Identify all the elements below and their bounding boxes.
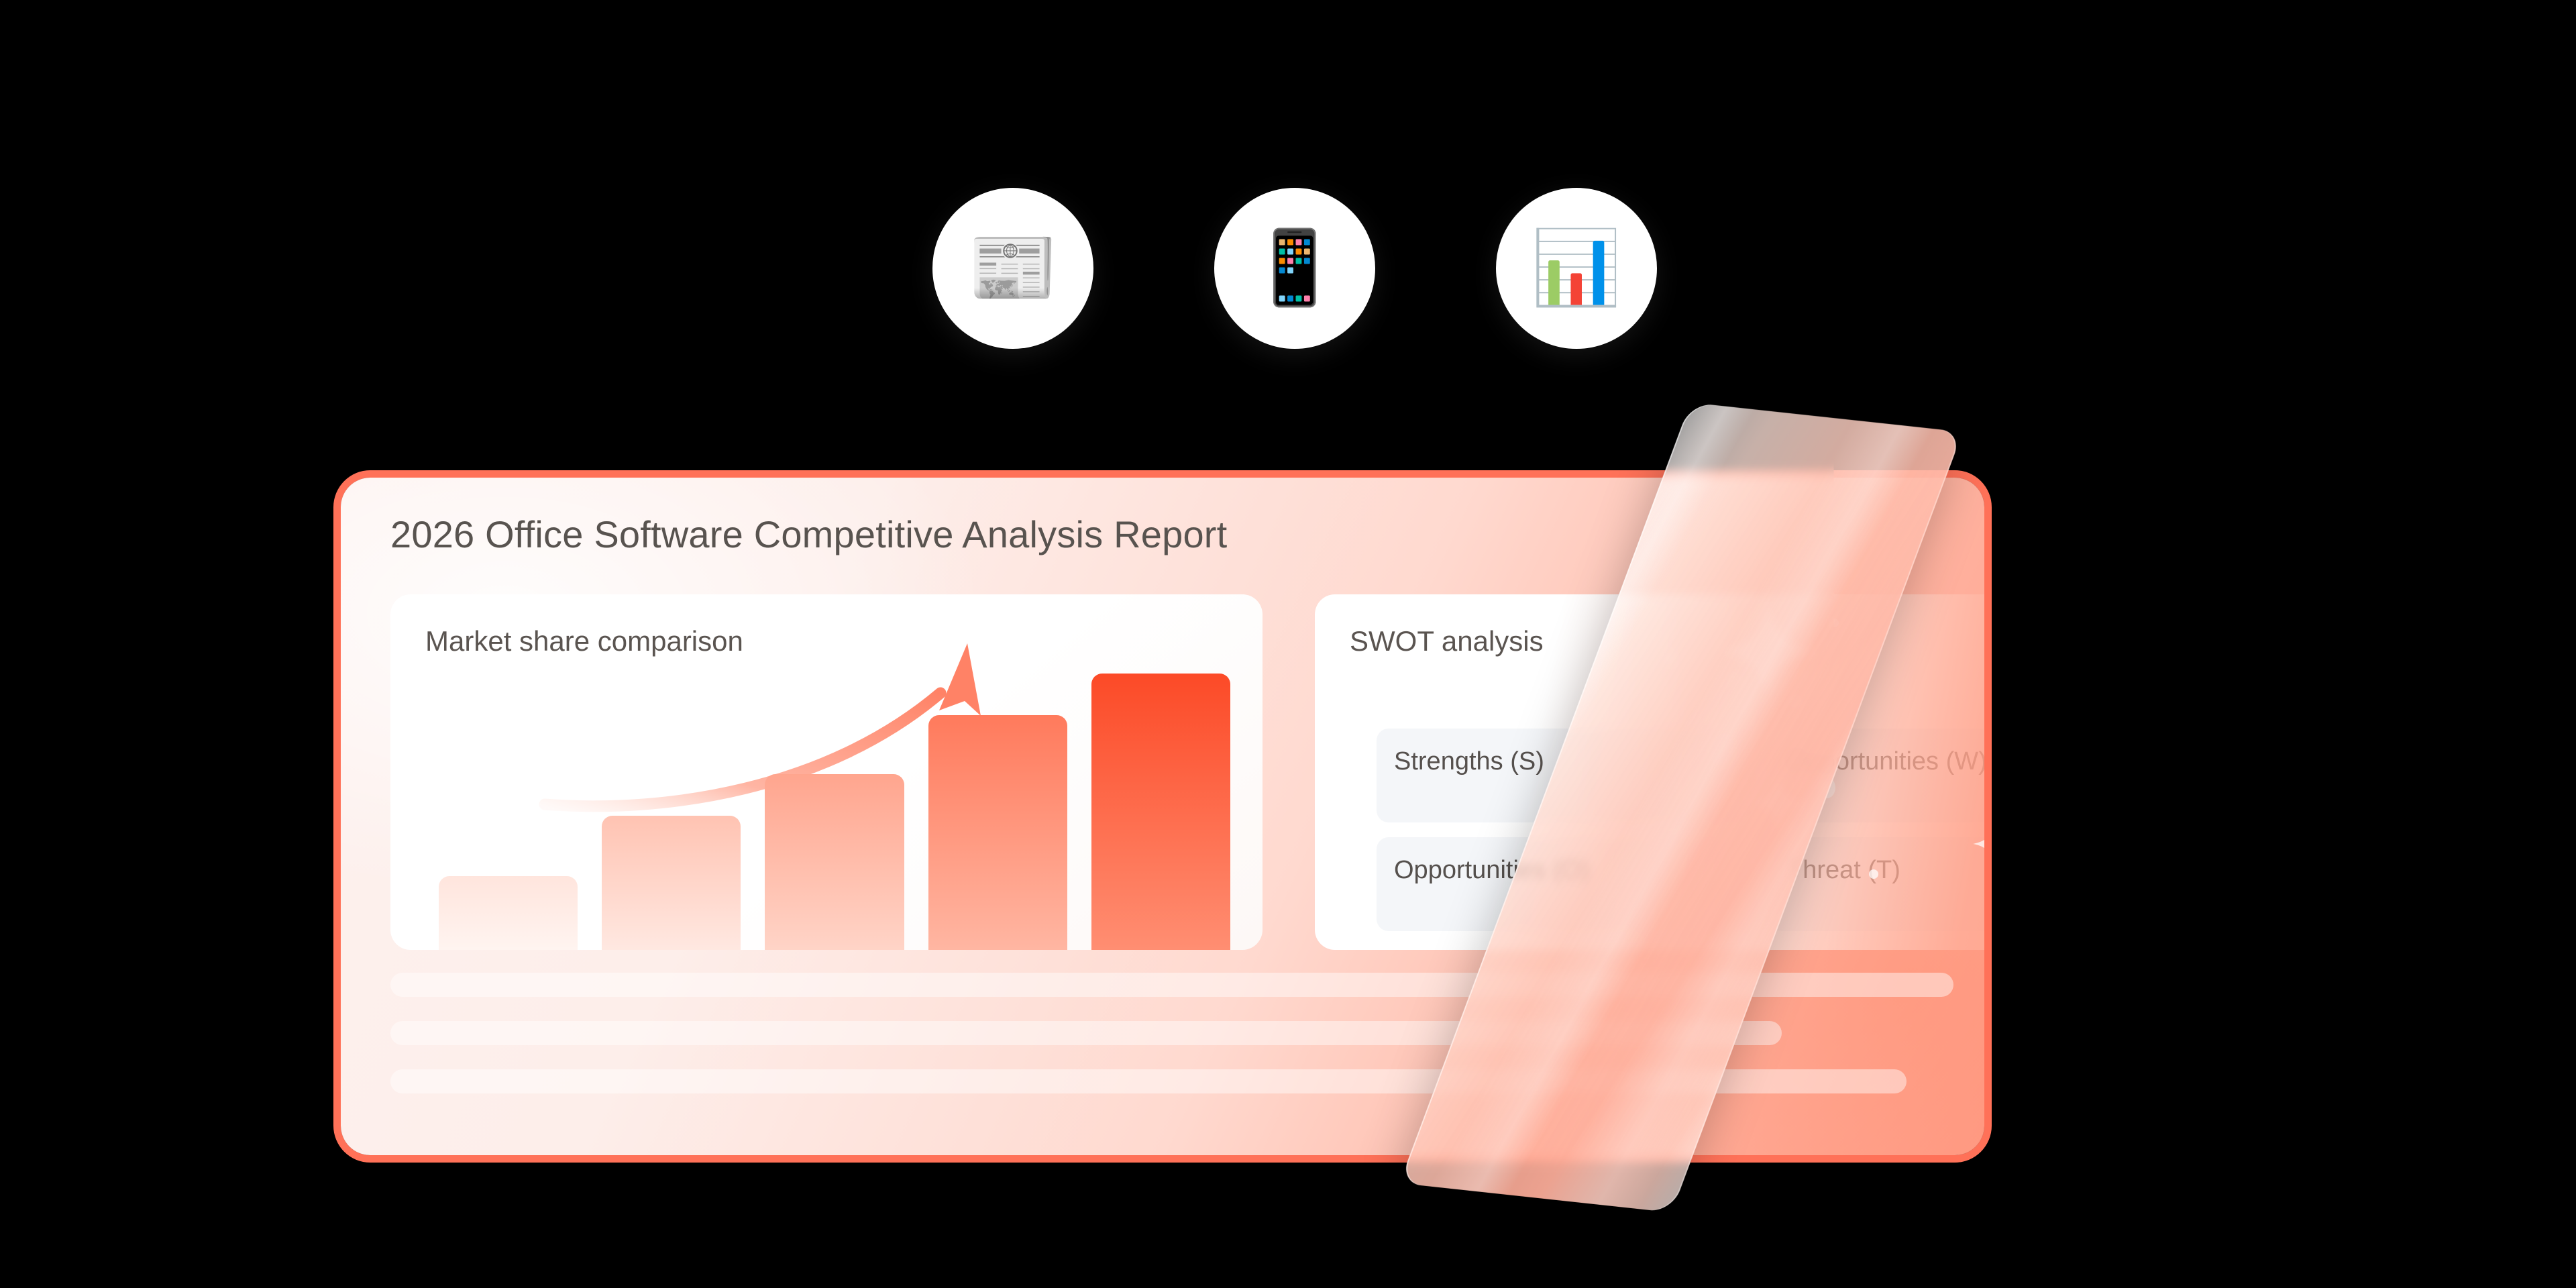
newspaper-icon: 📰 <box>968 232 1058 305</box>
bar-2 <box>602 816 741 950</box>
mobile-phone-icon: 📱 <box>1250 232 1340 305</box>
bar-3 <box>765 774 904 950</box>
market-share-panel: Market share comparison <box>390 594 1263 950</box>
market-share-bar-group <box>439 668 1230 950</box>
page-title: 2026 Office Software Competitive Analysi… <box>390 513 1227 556</box>
bar-1 <box>439 876 578 950</box>
swot-panel-title: SWOT analysis <box>1350 625 1544 657</box>
bar-chart-icon: 📊 <box>1532 232 1621 305</box>
icon-bubble-mobile-phone[interactable]: 📱 <box>1214 188 1375 349</box>
market-share-panel-title: Market share comparison <box>425 625 743 657</box>
feature-icon-row: 📰 📱 📊 <box>932 188 1657 349</box>
icon-bubble-newspaper[interactable]: 📰 <box>932 188 1093 349</box>
swot-label-threat: Threat (T) <box>1787 856 1900 885</box>
bar-5 <box>1091 674 1230 950</box>
swot-label-strengths: Strengths (S) <box>1394 747 1544 776</box>
icon-bubble-bar-chart[interactable]: 📊 <box>1496 188 1657 349</box>
bar-4 <box>928 715 1067 950</box>
